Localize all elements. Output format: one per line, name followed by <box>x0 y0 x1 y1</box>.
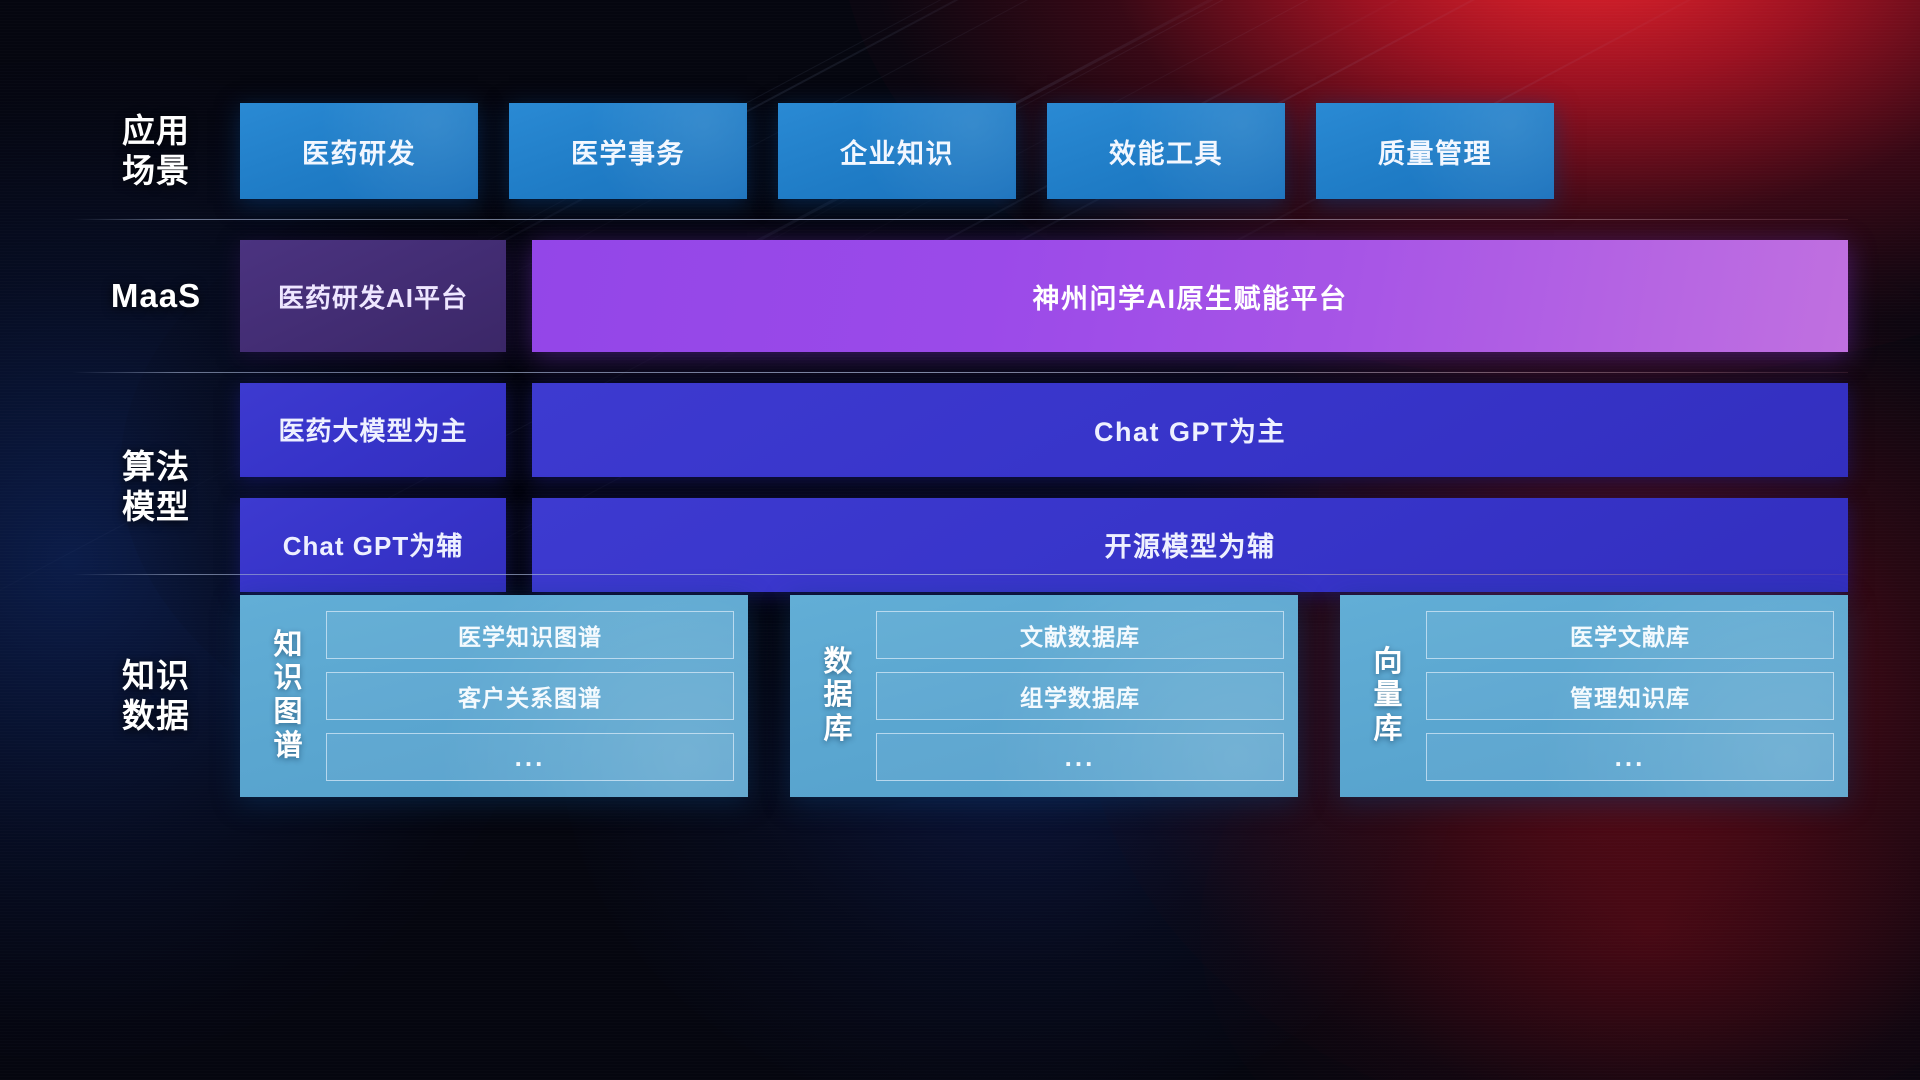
app-box-enterprise-knowledge[interactable]: 企业知识 <box>778 103 1016 199</box>
row-label-line2: 数据 <box>72 696 240 736</box>
row-label-algorithm: 算法 模型 <box>72 447 240 528</box>
knowledge-item-customer-graph[interactable]: 客户关系图谱 <box>326 672 734 720</box>
knowledge-card-item-list: 文献数据库 组学数据库 ... <box>876 611 1284 781</box>
algorithm-box-stack: 医药大模型为主 Chat GPT为主 Chat GPT为辅 开源模型为辅 <box>240 383 1848 592</box>
knowledge-item-label: ... <box>515 742 546 773</box>
alg-box-drug-llm-primary[interactable]: 医药大模型为主 <box>240 383 506 477</box>
knowledge-item-label: ... <box>1065 742 1096 773</box>
divider-3 <box>72 574 1848 575</box>
knowledge-card-item-list: 医学知识图谱 客户关系图谱 ... <box>326 611 734 781</box>
alg-right-label: 开源模型为辅 <box>1105 525 1276 564</box>
row-label-line1: 算法 <box>122 448 190 485</box>
row-label-application: 应用 场景 <box>72 111 240 192</box>
row-algorithm-models: 算法 模型 医药大模型为主 Chat GPT为主 Chat GPT为辅 开源模型… <box>72 382 1848 592</box>
knowledge-item-label: 管理知识库 <box>1570 679 1690 713</box>
app-box-label: 企业知识 <box>840 132 954 171</box>
knowledge-item-more[interactable]: ... <box>876 733 1284 781</box>
knowledge-item-label: 文献数据库 <box>1020 618 1140 652</box>
knowledge-card-item-list: 医学文献库 管理知识库 ... <box>1426 611 1834 781</box>
knowledge-card-vertical-label: 向量库 <box>1350 611 1426 781</box>
maas-left-label: 医药研发AI平台 <box>278 278 468 315</box>
knowledge-item-label: ... <box>1615 742 1646 773</box>
row-label-line2: 场景 <box>72 151 240 191</box>
row-label-line1: 应用 <box>122 112 190 149</box>
knowledge-item-medical-graph[interactable]: 医学知识图谱 <box>326 611 734 659</box>
architecture-diagram: 应用 场景 医药研发 医学事务 企业知识 效能工具 质量管理 MaaS 医药研发… <box>0 0 1920 1080</box>
alg-box-chatgpt-primary[interactable]: Chat GPT为主 <box>532 383 1848 477</box>
knowledge-item-literature-db[interactable]: 文献数据库 <box>876 611 1284 659</box>
knowledge-card-database[interactable]: 数据库 文献数据库 组学数据库 ... <box>790 595 1298 797</box>
application-box-group: 医药研发 医学事务 企业知识 效能工具 质量管理 <box>240 103 1554 199</box>
app-box-efficiency-tools[interactable]: 效能工具 <box>1047 103 1285 199</box>
knowledge-item-management-knowledge[interactable]: 管理知识库 <box>1426 672 1834 720</box>
knowledge-item-label: 医学文献库 <box>1570 618 1690 652</box>
maas-box-drug-ai-platform[interactable]: 医药研发AI平台 <box>240 240 506 352</box>
alg-left-label: 医药大模型为主 <box>278 411 467 448</box>
alg-right-label: Chat GPT为主 <box>1094 410 1286 449</box>
knowledge-card-group: 知识图谱 医学知识图谱 客户关系图谱 ... 数据库 文献数据库 组学数据库 .… <box>240 595 1848 797</box>
knowledge-item-label: 客户关系图谱 <box>458 679 602 713</box>
knowledge-item-more[interactable]: ... <box>1426 733 1834 781</box>
app-box-label: 效能工具 <box>1109 132 1223 171</box>
divider-2 <box>72 372 1848 373</box>
vertical-label-text: 数据库 <box>823 646 852 747</box>
knowledge-item-label: 组学数据库 <box>1020 679 1140 713</box>
row-label-maas: MaaS <box>72 276 240 316</box>
algorithm-line-secondary: Chat GPT为辅 开源模型为辅 <box>240 498 1848 592</box>
knowledge-item-omics-db[interactable]: 组学数据库 <box>876 672 1284 720</box>
row-label-line1: 知识 <box>122 657 190 694</box>
row-knowledge-data: 知识 数据 知识图谱 医学知识图谱 客户关系图谱 ... 数据库 文献数据 <box>72 596 1848 796</box>
app-box-label: 质量管理 <box>1378 132 1492 171</box>
vertical-label-text: 知识图谱 <box>273 629 302 764</box>
vertical-label-text: 向量库 <box>1373 646 1402 747</box>
row-application-scenarios: 应用 场景 医药研发 医学事务 企业知识 效能工具 质量管理 <box>72 98 1848 204</box>
algorithm-line-primary: 医药大模型为主 Chat GPT为主 <box>240 383 1848 477</box>
knowledge-card-vertical-label: 知识图谱 <box>250 611 326 781</box>
row-label-line2: 模型 <box>72 487 240 527</box>
alg-box-chatgpt-secondary[interactable]: Chat GPT为辅 <box>240 498 506 592</box>
app-box-quality-management[interactable]: 质量管理 <box>1316 103 1554 199</box>
app-box-drug-rd[interactable]: 医药研发 <box>240 103 478 199</box>
maas-box-shenzhou-wenxue-platform[interactable]: 神州问学AI原生赋能平台 <box>532 240 1848 352</box>
row-label-line1: MaaS <box>111 277 201 314</box>
alg-box-opensource-secondary[interactable]: 开源模型为辅 <box>532 498 1848 592</box>
divider-1 <box>72 219 1848 220</box>
knowledge-item-label: 医学知识图谱 <box>458 618 602 652</box>
knowledge-card-vertical-label: 数据库 <box>800 611 876 781</box>
alg-left-label: Chat GPT为辅 <box>283 526 463 563</box>
app-box-medical-affairs[interactable]: 医学事务 <box>509 103 747 199</box>
knowledge-card-vector-store[interactable]: 向量库 医学文献库 管理知识库 ... <box>1340 595 1848 797</box>
knowledge-item-medical-literature[interactable]: 医学文献库 <box>1426 611 1834 659</box>
knowledge-card-knowledge-graph[interactable]: 知识图谱 医学知识图谱 客户关系图谱 ... <box>240 595 748 797</box>
app-box-label: 医药研发 <box>302 132 416 171</box>
app-box-label: 医学事务 <box>571 132 685 171</box>
row-maas: MaaS 医药研发AI平台 神州问学AI原生赋能平台 <box>72 234 1848 358</box>
maas-right-label: 神州问学AI原生赋能平台 <box>1033 277 1348 316</box>
knowledge-item-more[interactable]: ... <box>326 733 734 781</box>
row-label-knowledge: 知识 数据 <box>72 656 240 737</box>
